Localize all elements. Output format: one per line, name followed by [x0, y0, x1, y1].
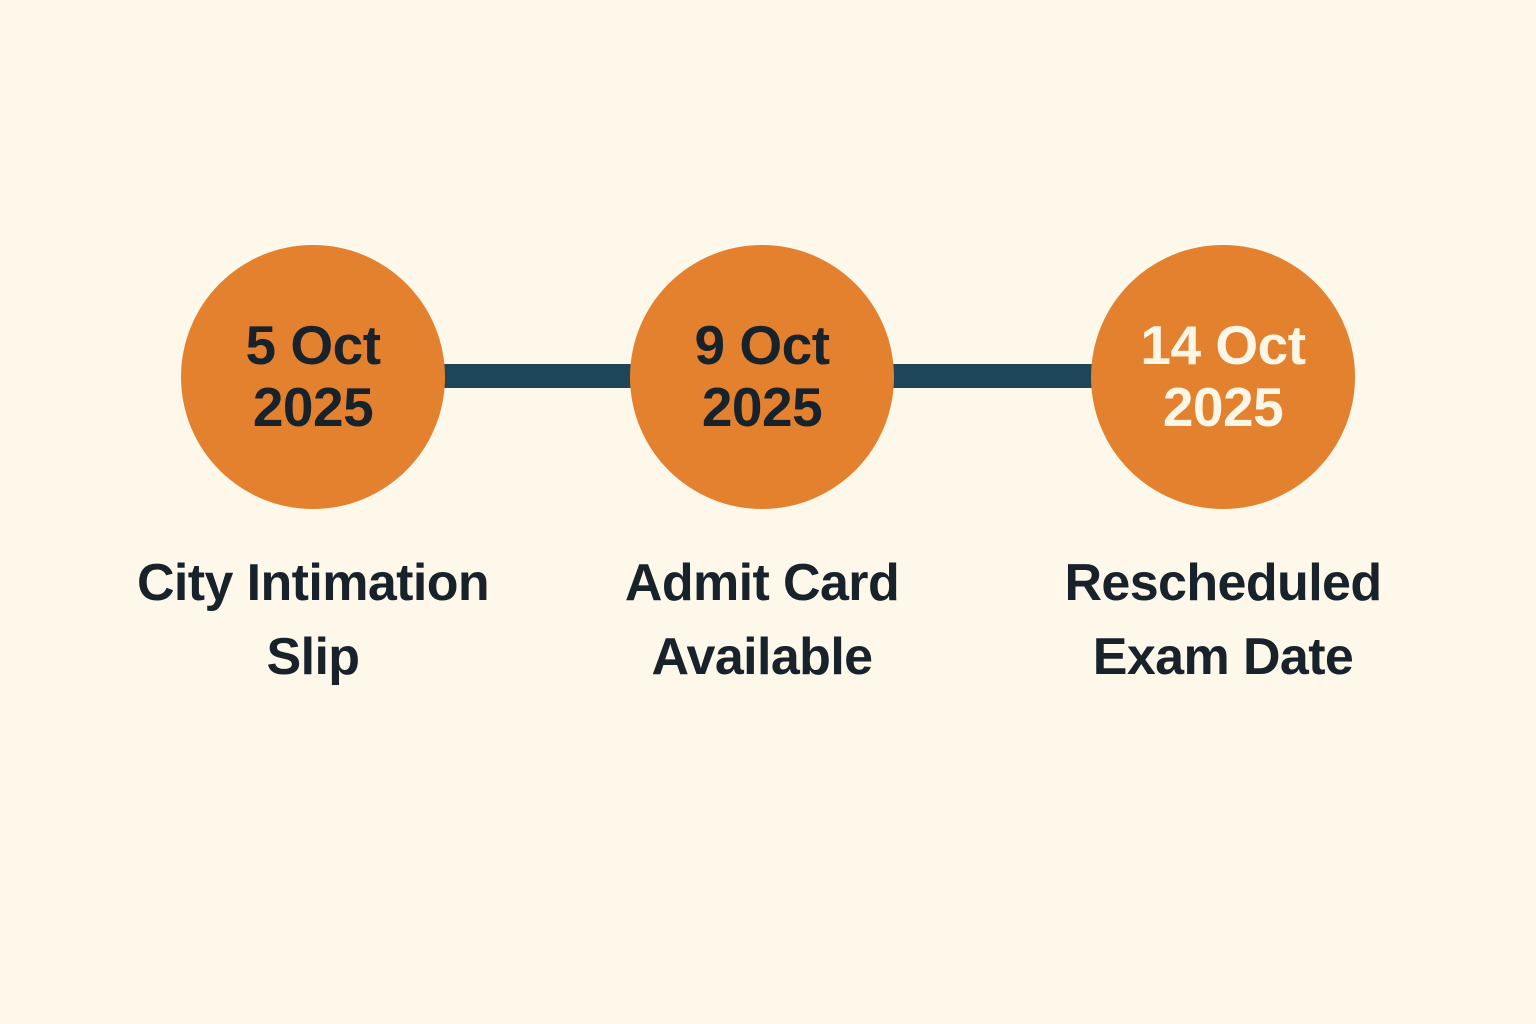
milestone-date-line-2a: 9 Oct [694, 315, 829, 377]
milestone-date-circle-2: 9 Oct 2025 [630, 245, 894, 509]
milestone-date-line-2b: 2025 [702, 377, 822, 439]
timeline-milestone-3: 14 Oct 2025 Rescheduled Exam Date [1013, 245, 1433, 695]
milestone-date-circle-3: 14 Oct 2025 [1091, 245, 1355, 509]
milestone-date-line-3a: 14 Oct [1140, 315, 1305, 377]
milestone-caption-1: City Intimation Slip [103, 547, 523, 695]
milestone-caption-3: Rescheduled Exam Date [1013, 547, 1433, 695]
milestone-date-line-3b: 2025 [1163, 377, 1283, 439]
milestone-date-circle-1: 5 Oct 2025 [181, 245, 445, 509]
milestone-date-line-1b: 2025 [253, 377, 373, 439]
milestone-caption-2: Admit Card Available [552, 547, 972, 695]
timeline-milestone-1: 5 Oct 2025 City Intimation Slip [103, 245, 523, 695]
timeline-milestone-2: 9 Oct 2025 Admit Card Available [552, 245, 972, 695]
milestone-date-line-1a: 5 Oct [245, 315, 380, 377]
timeline-diagram: 5 Oct 2025 City Intimation Slip 9 Oct 20… [0, 0, 1536, 1024]
